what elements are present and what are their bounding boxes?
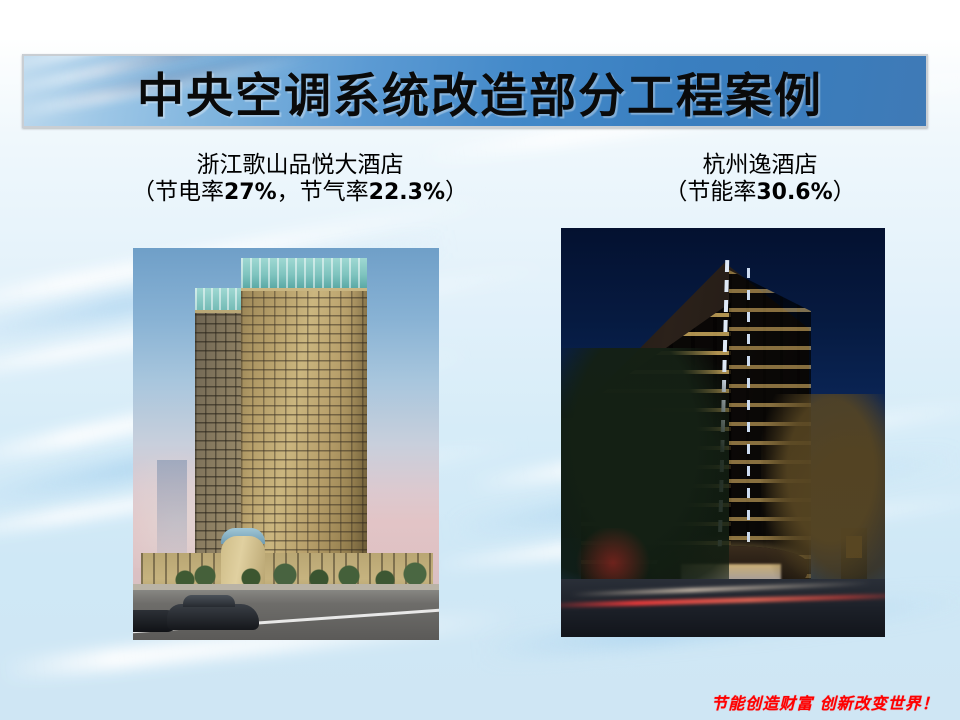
case-metrics-right-prefix: （节能率 <box>664 179 756 205</box>
case-name-left: 浙江歌山品悦大酒店 <box>60 152 540 179</box>
slide-canvas: 中央空调系统改造部分工程案例 浙江歌山品悦大酒店 （节电率27%，节气率22.3… <box>0 0 960 720</box>
slide-title-banner: 中央空调系统改造部分工程案例 <box>22 54 928 128</box>
case-caption-left: 浙江歌山品悦大酒店 （节电率27%，节气率22.3%） <box>60 152 540 206</box>
photo-right-corner-light-strip-2 <box>747 268 750 580</box>
case-name-right: 杭州逸酒店 <box>600 152 920 179</box>
case-metric-left-2: 22.3% <box>369 180 445 205</box>
photo-left-curb <box>133 584 439 590</box>
case-metrics-left-middle: ，节气率 <box>277 179 369 205</box>
case-metric-left-1: 27% <box>224 180 277 205</box>
case-metrics-left-suffix: ） <box>445 179 468 205</box>
footer-slogan: 节能创造财富 创新改变世界！ <box>700 690 950 714</box>
photo-left-car <box>167 604 259 630</box>
page-title: 中央空调系统改造部分工程案例 <box>24 56 926 126</box>
case-photo-right <box>561 228 885 637</box>
case-metrics-left: （节电率27%，节气率22.3%） <box>60 179 540 206</box>
case-photo-left <box>133 248 439 640</box>
case-metrics-right: （节能率30.6%） <box>600 179 920 206</box>
case-metrics-right-suffix: ） <box>833 179 856 205</box>
case-caption-right: 杭州逸酒店 （节能率30.6%） <box>600 152 920 206</box>
case-metric-right-1: 30.6% <box>756 180 832 205</box>
case-metrics-left-prefix: （节电率 <box>132 179 224 205</box>
photo-right-tree-right <box>761 394 885 584</box>
photo-left-glass-crown <box>241 258 367 291</box>
